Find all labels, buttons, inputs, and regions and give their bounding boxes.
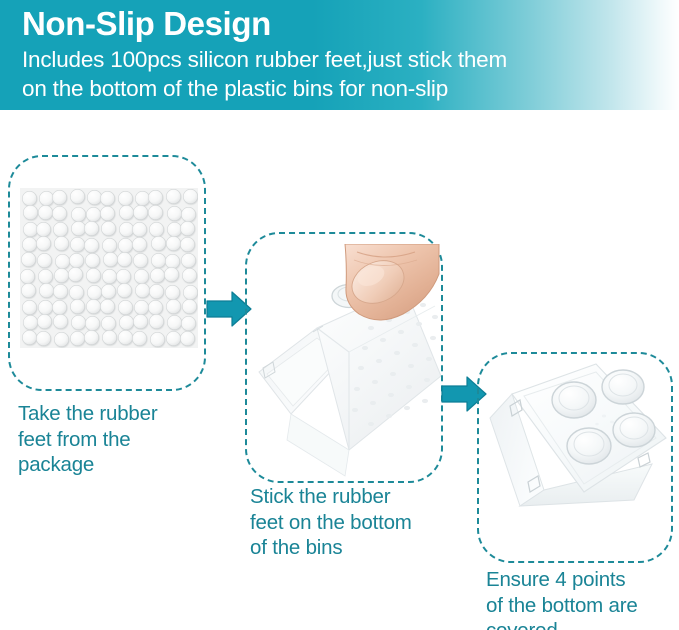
rubber-foot-dot xyxy=(102,238,117,253)
rubber-foot-dot xyxy=(166,189,181,204)
rubber-foot-dot xyxy=(36,236,51,251)
rubber-foot-dot xyxy=(133,314,148,329)
rubber-foot-dot xyxy=(167,206,182,221)
rubber-foot-dot xyxy=(52,206,67,221)
rubber-foot-dot xyxy=(70,237,85,252)
rubber-foot-dot xyxy=(87,190,102,205)
rubber-foot-dot xyxy=(118,330,133,345)
step-3-caption: Ensure 4 points of the bottom are covere… xyxy=(486,567,638,630)
rubber-foot-dot xyxy=(132,222,147,237)
bin-bottom-four-feet-image xyxy=(484,360,668,556)
rubber-foot-dot xyxy=(119,315,134,330)
rubber-foot-dot xyxy=(148,300,163,315)
rubber-foot-dot xyxy=(22,330,37,345)
rubber-foot-dot xyxy=(53,284,68,299)
step-2-caption-line-3: of the bins xyxy=(250,535,412,561)
rubber-foot-dot xyxy=(22,300,37,315)
rubber-foot-dot xyxy=(87,285,102,300)
header-banner: Non-Slip Design Includes 100pcs silicon … xyxy=(0,0,679,110)
rubber-foot-dot xyxy=(181,316,196,331)
rubber-foot-dot xyxy=(84,330,99,345)
rubber-foot-dot xyxy=(151,236,166,251)
rubber-foot-dot xyxy=(84,221,99,236)
rubber-foot-dot xyxy=(135,191,150,206)
rubber-foot-dot xyxy=(54,332,69,347)
step-1-caption: Take the rubber feet from the package xyxy=(18,401,157,478)
step-2-caption-line-1: Stick the rubber xyxy=(250,484,412,510)
rubber-foot-dot xyxy=(54,268,69,283)
rubber-foot-dot xyxy=(182,299,197,314)
rubber-foot-dot xyxy=(36,331,51,346)
rubber-foot-dot xyxy=(103,252,118,267)
plastic-bin-body xyxy=(259,288,441,476)
rubber-foot-dot xyxy=(119,222,134,237)
rubber-foot-dot xyxy=(148,190,163,205)
rubber-foot-dot xyxy=(133,205,148,220)
header-subtitle-line-1: Includes 100pcs silicon rubber feet,just… xyxy=(22,45,507,74)
rubber-foot-dot xyxy=(53,314,68,329)
rubber-foot-dot xyxy=(85,253,100,268)
rubber-foot-dot xyxy=(23,315,38,330)
rubber-foot-dot xyxy=(101,221,116,236)
rubber-foot-dot xyxy=(39,191,54,206)
header-subtitle-line-2: on the bottom of the plastic bins for no… xyxy=(22,74,507,103)
step-3-caption-line-1: Ensure 4 points xyxy=(486,567,638,593)
rubber-foot-dot xyxy=(71,207,86,222)
rubber-foot-dot xyxy=(55,254,70,269)
step-2-caption: Stick the rubber feet on the bottom of t… xyxy=(250,484,412,561)
rubber-foot-dot xyxy=(23,205,38,220)
rubber-foot-dot xyxy=(181,207,196,222)
rubber-foot-dot xyxy=(167,222,182,237)
rubber-foot-dot xyxy=(132,237,147,252)
finger-pressing-foot-image xyxy=(253,244,441,480)
rubber-foot-dot xyxy=(21,283,36,298)
rubber-foot-dot xyxy=(116,269,131,284)
rubber-foot-dot xyxy=(117,283,132,298)
rubber-foot-dot xyxy=(36,222,51,237)
rubber-foot-dot xyxy=(118,191,133,206)
rubber-foot-dot xyxy=(166,236,181,251)
rubber-foot-dot xyxy=(69,285,84,300)
step-2-caption-line-2: feet on the bottom xyxy=(250,510,412,536)
rubber-foot-dot xyxy=(54,236,69,251)
rubber-foot-dot xyxy=(53,222,68,237)
rubber-foot-dot xyxy=(39,283,54,298)
rubber-foot-dot xyxy=(117,252,132,267)
rubber-dot-grid xyxy=(21,190,197,346)
rubber-foot-dot xyxy=(38,205,53,220)
rubber-foot-dot xyxy=(86,207,101,222)
rubber-foot-dot xyxy=(101,316,116,331)
rubber-foot-dot xyxy=(71,221,86,236)
rubber-foot-dot xyxy=(134,269,149,284)
page-title: Non-Slip Design xyxy=(22,4,271,44)
rubber-foot-dot xyxy=(180,331,195,346)
rubber-foot-dot xyxy=(183,285,198,300)
step-1-caption-line-3: package xyxy=(18,452,157,478)
rubber-foot-dot xyxy=(150,268,165,283)
rubber-foot-dot xyxy=(100,299,115,314)
rubber-foot-dot xyxy=(149,284,164,299)
rubber-foot-dot xyxy=(70,299,85,314)
rubber-foot-dot xyxy=(119,205,134,220)
rubber-foot-dot xyxy=(71,315,86,330)
rubber-foot-dot xyxy=(181,253,196,268)
header-subtitle: Includes 100pcs silicon rubber feet,just… xyxy=(22,45,507,103)
rubber-foot-dot xyxy=(151,253,166,268)
rubber-foot-dot xyxy=(69,253,84,268)
rubber-foot-dot xyxy=(166,331,181,346)
rubber-foot-dot xyxy=(132,331,147,346)
rubber-foot-dot xyxy=(37,314,52,329)
rubber-foot-dot xyxy=(38,269,53,284)
rubber-foot-dot xyxy=(133,253,148,268)
rubber-foot-dot xyxy=(118,300,133,315)
rubber-foot-dot xyxy=(86,299,101,314)
infographic-page: Non-Slip Design Includes 100pcs silicon … xyxy=(0,0,679,630)
rubber-foot-dot xyxy=(22,237,37,252)
rubber-foot-dot xyxy=(20,269,35,284)
step-3-caption-line-2: of the bottom are xyxy=(486,593,638,619)
rubber-foot-dot xyxy=(84,238,99,253)
rubber-foot-dot xyxy=(182,268,197,283)
rubber-foot-dot xyxy=(23,222,38,237)
rubber-foot-dot xyxy=(166,299,181,314)
rubber-foot-dot xyxy=(52,300,67,315)
rubber-foot-dot xyxy=(165,285,180,300)
rubber-foot-dot xyxy=(70,331,85,346)
rubber-foot-dot xyxy=(100,206,115,221)
finger xyxy=(345,244,439,320)
rubber-foot-dot xyxy=(148,205,163,220)
rubber-foot-dot xyxy=(134,300,149,315)
rubber-foot-dot xyxy=(70,189,85,204)
rubber-foot-dot xyxy=(101,284,116,299)
step-1-caption-line-1: Take the rubber xyxy=(18,401,157,427)
rubber-foot-dot xyxy=(22,191,37,206)
rubber-foot-dot xyxy=(100,191,115,206)
rubber-foot-dot xyxy=(180,237,195,252)
rubber-foot-dot xyxy=(183,189,198,204)
step-1-caption-line-2: feet from the xyxy=(18,427,157,453)
rubber-foot-dot xyxy=(164,267,179,282)
rubber-foot-dot xyxy=(85,316,100,331)
rubber-foot-dot xyxy=(21,252,36,267)
rubber-foot-dot xyxy=(180,221,195,236)
rubber-foot-dot xyxy=(118,238,133,253)
rubber-foot-dot xyxy=(102,330,117,345)
step-3-caption-line-3: covered xyxy=(486,618,638,630)
rubber-foot-dot xyxy=(68,267,83,282)
rubber-foot-dot xyxy=(37,253,52,268)
rubber-feet-sheet-image xyxy=(20,188,198,348)
rubber-foot-dot xyxy=(52,190,67,205)
rubber-foot-dot xyxy=(150,332,165,347)
rubber-foot-dot xyxy=(102,269,117,284)
rubber-foot-dot xyxy=(135,283,150,298)
rubber-foot-dot xyxy=(86,268,101,283)
rubber-foot-dot xyxy=(167,315,182,330)
rubber-foot-dot xyxy=(149,314,164,329)
